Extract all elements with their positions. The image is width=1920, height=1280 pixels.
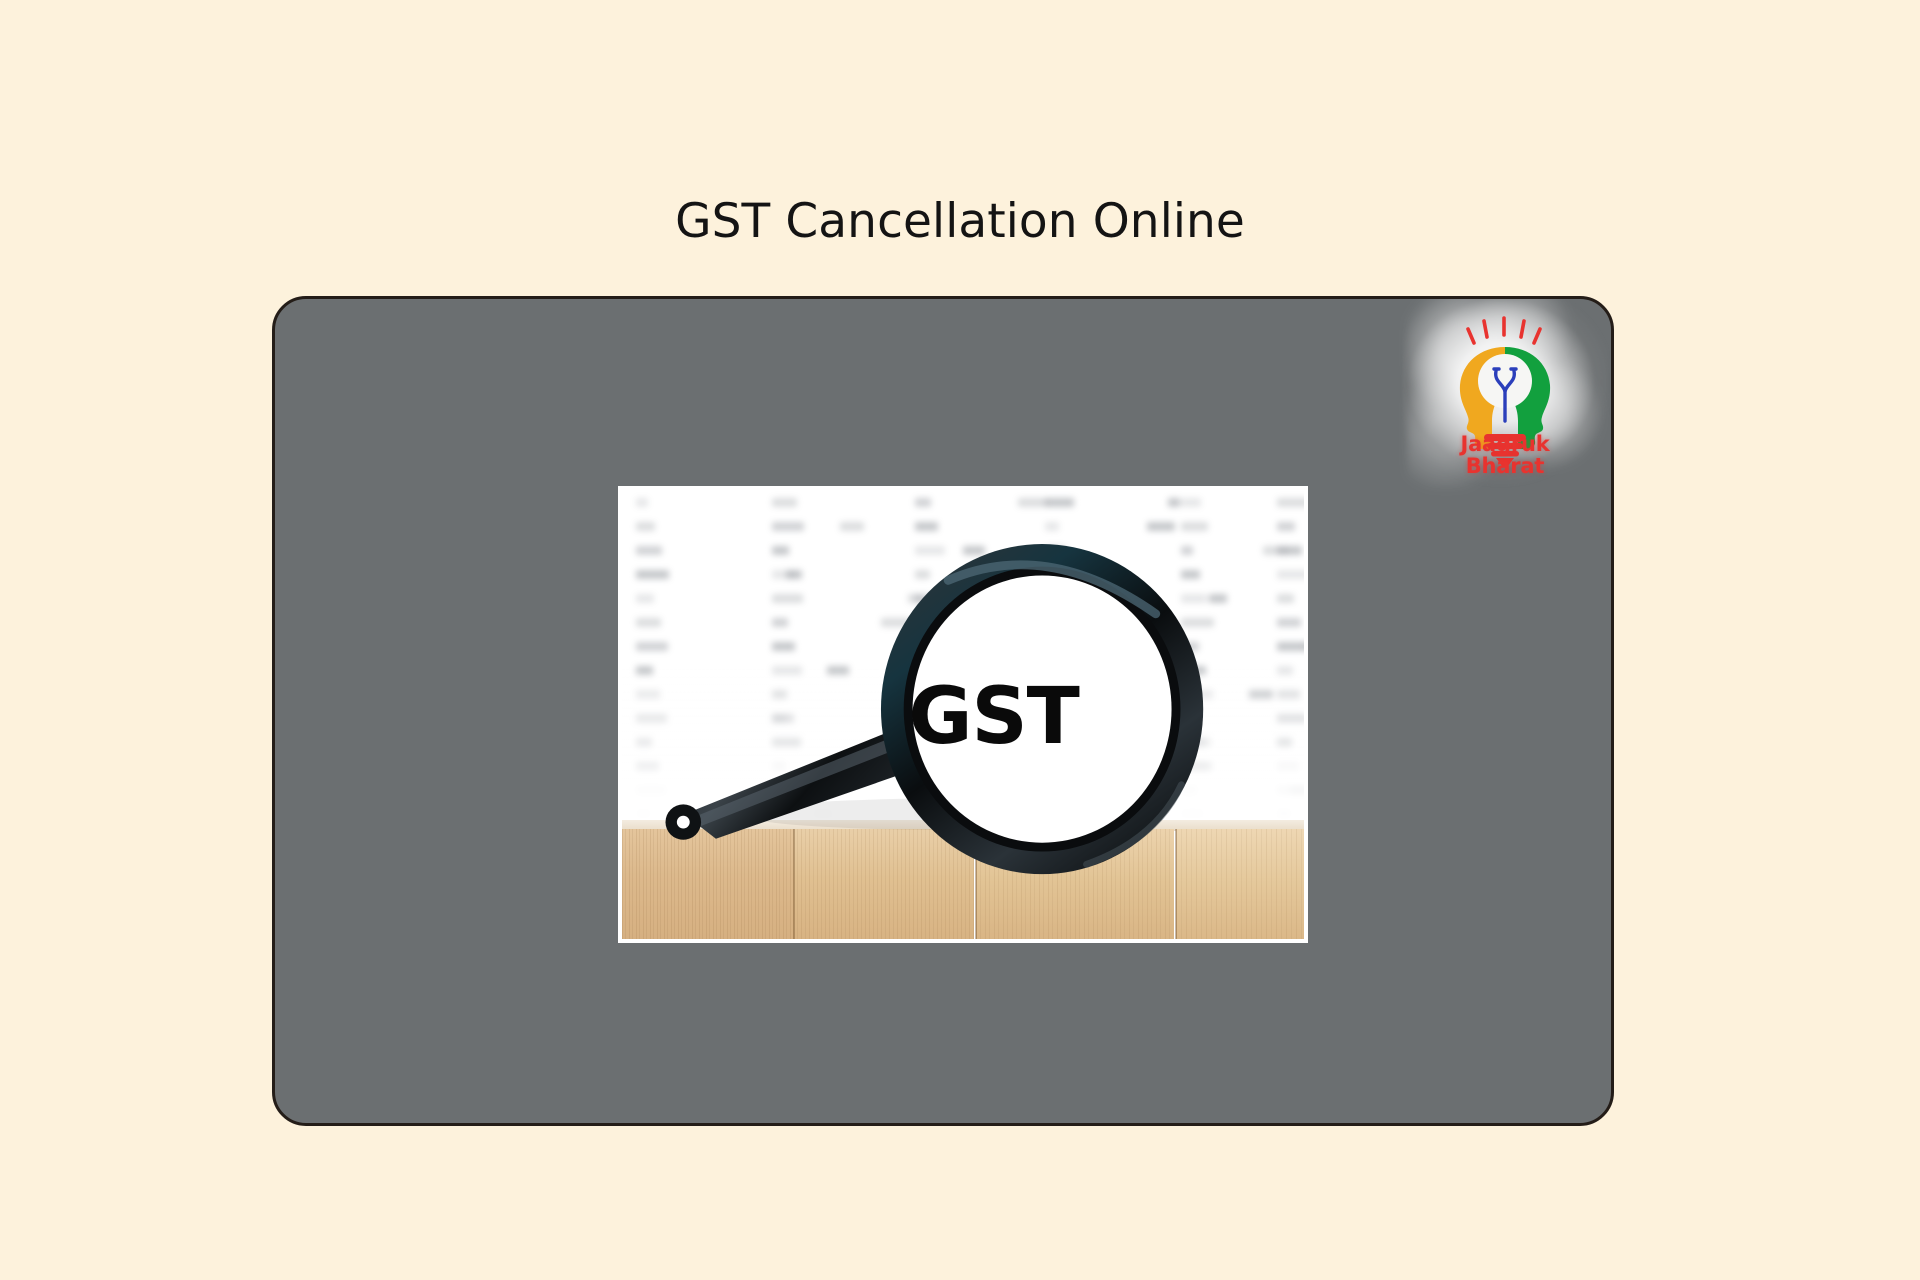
- filament: [1494, 369, 1516, 421]
- jaagruk-bharat-logo: Jaagruk Bharat: [1407, 296, 1603, 489]
- page-title: GST Cancellation Online: [0, 194, 1920, 250]
- photo-frame: GST: [618, 486, 1308, 943]
- bulb-glass: [1478, 354, 1532, 408]
- head-profile-right: [1505, 347, 1550, 449]
- media-card: GST: [272, 296, 1614, 1126]
- rays: [1468, 318, 1540, 343]
- logo-line-2: Bharat: [1407, 456, 1603, 477]
- logo-glow: [1403, 296, 1608, 495]
- bulb-base: [1484, 434, 1526, 466]
- logo-texture: [1407, 296, 1603, 489]
- page-root: GST Cancellation Online: [0, 0, 1920, 1280]
- logo-art: [1430, 309, 1580, 473]
- magnifier-icon: GST: [622, 490, 1304, 939]
- logo-line-1: Jaagruk: [1460, 432, 1549, 456]
- gst-magnifier-photo: GST: [622, 490, 1304, 939]
- lens-label-gst: GST: [908, 678, 1078, 756]
- logo-wordmark: Jaagruk Bharat: [1407, 434, 1603, 477]
- head-profile-left: [1460, 347, 1505, 449]
